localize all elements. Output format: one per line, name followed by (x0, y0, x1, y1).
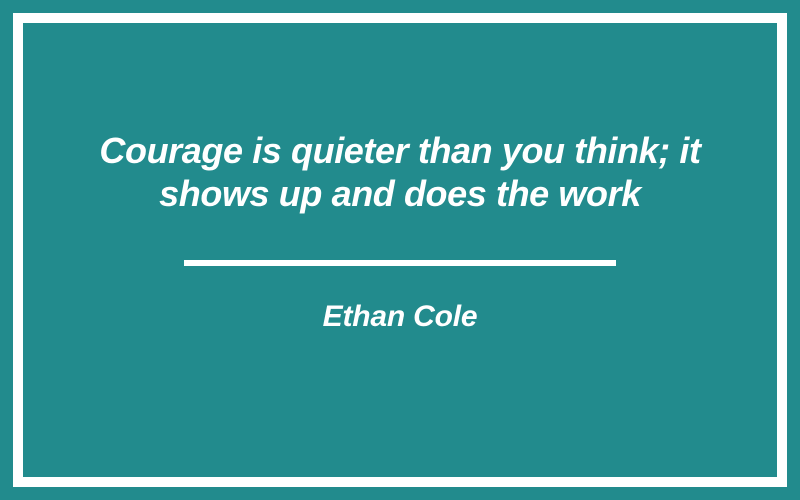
quote-card: Courage is quieter than you think; it sh… (0, 0, 800, 500)
quote-line-1: Courage is quieter than you think; it (99, 129, 700, 172)
author-name: Ethan Cole (323, 299, 478, 335)
quote-line-2: shows up and does the work (99, 172, 700, 215)
quote-text: Courage is quieter than you think; it sh… (99, 129, 700, 215)
quote-block: Courage is quieter than you think; it sh… (23, 129, 777, 335)
divider-rule (184, 260, 616, 266)
card-content-area: Courage is quieter than you think; it sh… (23, 23, 777, 477)
